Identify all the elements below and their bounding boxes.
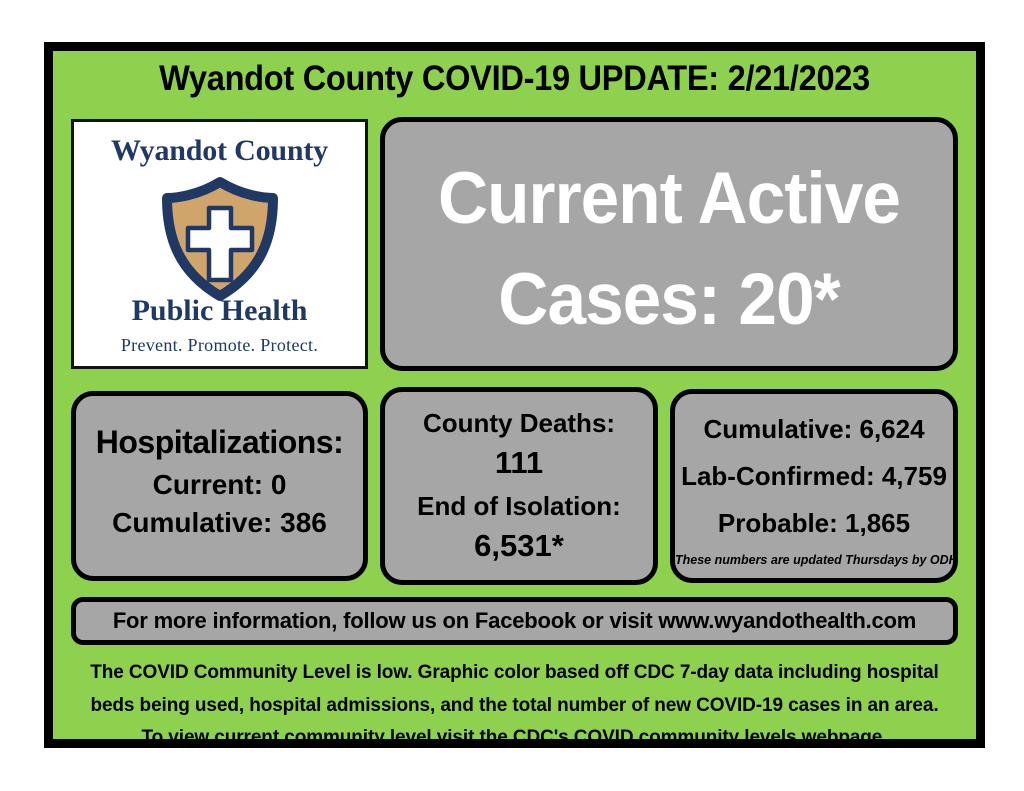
community-level-footnote: The COVID Community Level is low. Graphi… bbox=[73, 657, 956, 755]
logo-top-label: Wyandot County bbox=[74, 134, 365, 168]
counts-probable: Probable: 1,865 bbox=[675, 508, 953, 539]
hospitalizations-cumulative: Cumulative: 386 bbox=[76, 507, 363, 539]
footnote-line-2: beds being used, hospital admissions, an… bbox=[73, 690, 956, 723]
shield-cross-icon bbox=[74, 174, 365, 304]
info-banner: For more information, follow us on Faceb… bbox=[71, 597, 958, 645]
logo-bottom-label: Public Health bbox=[74, 294, 365, 328]
hospitalizations-current: Current: 0 bbox=[76, 469, 363, 501]
counts-update-note: These numbers are updated Thursdays by O… bbox=[675, 553, 953, 567]
case-counts-card: Cumulative: 6,624 Lab-Confirmed: 4,759 P… bbox=[670, 389, 958, 583]
counts-cumulative: Cumulative: 6,624 bbox=[675, 414, 953, 445]
health-department-logo: Wyandot County Public Health Prevent. Pr… bbox=[71, 119, 368, 369]
active-cases-line1: Current Active bbox=[399, 162, 939, 235]
footnote-line-3: To view current community level visit th… bbox=[73, 722, 956, 755]
footnote-line-1: The COVID Community Level is low. Graphi… bbox=[73, 657, 956, 690]
county-deaths-card: County Deaths: 111 End of Isolation: 6,5… bbox=[380, 387, 658, 585]
logo-tagline: Prevent. Promote. Protect. bbox=[74, 335, 365, 356]
end-of-isolation-value: 6,531* bbox=[385, 528, 653, 564]
info-banner-text: For more information, follow us on Faceb… bbox=[113, 608, 916, 634]
active-cases-card: Current Active Cases: 20* bbox=[380, 117, 958, 371]
active-cases-line2: Cases: 20* bbox=[399, 263, 939, 336]
county-deaths-title: County Deaths: bbox=[385, 408, 653, 439]
page-title: Wyandot County COVID-19 UPDATE: 2/21/202… bbox=[85, 59, 943, 99]
end-of-isolation-title: End of Isolation: bbox=[385, 491, 653, 522]
hospitalizations-card: Hospitalizations: Current: 0 Cumulative:… bbox=[71, 391, 368, 581]
hospitalizations-title: Hospitalizations: bbox=[76, 424, 363, 461]
county-deaths-value: 111 bbox=[385, 445, 653, 481]
covid-update-poster: Wyandot County COVID-19 UPDATE: 2/21/202… bbox=[44, 42, 985, 748]
counts-lab-confirmed: Lab-Confirmed: 4,759 bbox=[675, 461, 953, 492]
